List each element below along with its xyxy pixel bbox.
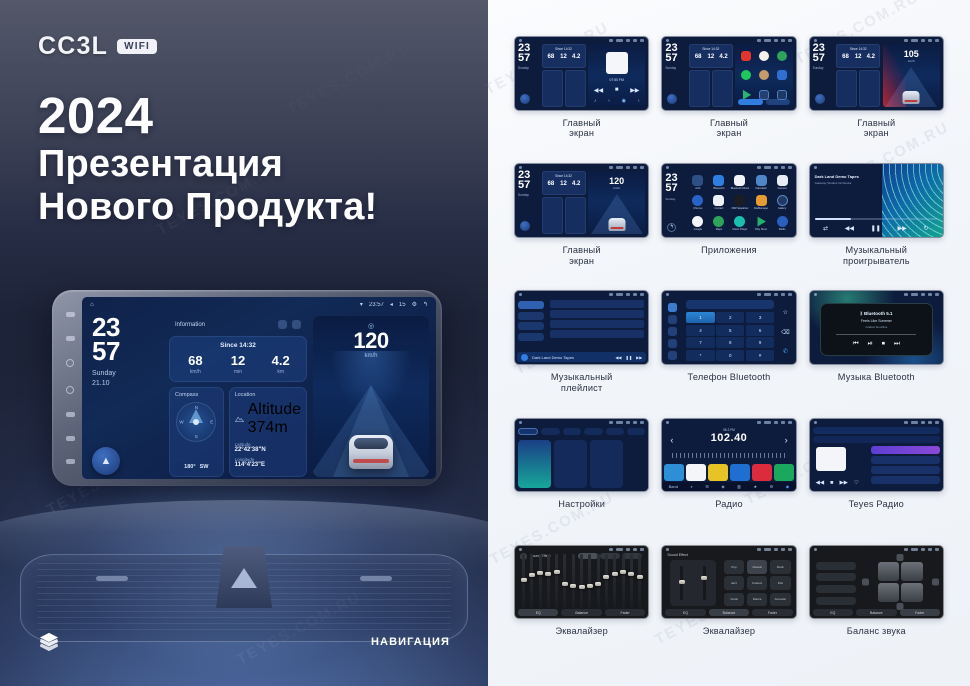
app-icon-spotify[interactable] xyxy=(741,70,751,80)
thumbnail-sound-balance[interactable]: EQ Balance Fader xyxy=(809,545,944,620)
rds-icon[interactable]: ◈ xyxy=(721,484,724,489)
thumbnail-home-media[interactable]: 23 57 Sunday Since 14:32 68 12 4.2 xyxy=(514,36,649,111)
thumbnail-bluetooth-music[interactable]: ᛒ Bluetooth 5.1 Feels Like Summer Coldes… xyxy=(809,290,944,365)
dial-key[interactable]: 9 xyxy=(746,337,774,348)
progress-slider[interactable] xyxy=(815,218,937,220)
clock-day: Sunday xyxy=(89,369,163,378)
caption-line-1: Музыкальный xyxy=(551,372,613,383)
list-item[interactable] xyxy=(871,476,940,484)
thumbnail-caption: Музыкальный плейлист xyxy=(551,372,613,394)
caption-line-1: Главный xyxy=(857,118,895,129)
caption-line-2: экран xyxy=(563,128,601,139)
mini-player[interactable]: Dark Land Demo Tapes ◀◀ ❚❚ ▶▶ xyxy=(517,352,646,362)
car-graphic xyxy=(608,218,625,231)
gallery-cell[interactable]: EQ Balance Fader Баланс звука xyxy=(809,545,944,668)
head-unit-bezel: ⌂ ▾ 23:57 ◂ 15 ⚙ ↰ 23 57 xyxy=(52,290,442,486)
speaker-levels[interactable] xyxy=(816,560,856,607)
app-item[interactable]: Bluetooth xyxy=(713,175,724,190)
tab-fader[interactable]: Fader xyxy=(900,609,940,616)
dial-key[interactable]: 1 xyxy=(686,312,714,323)
preset-name: Sound Effect xyxy=(667,553,688,557)
gallery-cell[interactable]: 23 57 Sunday Since 14:32 68 12 4.2 xyxy=(809,36,944,159)
gallery-cell[interactable]: 23 57 Sunday Since 14:32 68 12 4.2 xyxy=(661,36,796,159)
stop-icon[interactable]: ⏹ xyxy=(882,340,885,348)
app-label: Bluetooth Music xyxy=(731,187,749,190)
star-icon[interactable]: ☆ xyxy=(783,309,788,316)
thumbnail-music-playlist[interactable]: Dark Land Demo Tapes ◀◀ ❚❚ ▶▶ xyxy=(514,290,649,365)
tab-general[interactable] xyxy=(606,428,624,435)
seat-rear-right xyxy=(901,583,923,602)
thumbnail-equalizer-bands[interactable]: Sound Effect xyxy=(514,545,649,620)
dial-key[interactable]: # xyxy=(746,350,774,361)
bt-title: Bluetooth 5.1 xyxy=(864,311,893,316)
gallery-cell[interactable]: Настройки xyxy=(514,418,649,541)
location-widget[interactable] xyxy=(565,70,586,107)
eq-band[interactable] xyxy=(555,554,558,609)
preset-4[interactable] xyxy=(730,464,750,481)
thumbnail-caption: Радио xyxy=(715,499,743,510)
preset-grid[interactable]: Pop Classic Rock Jazz Custom Flat Vocal … xyxy=(724,560,791,607)
longitude-value: 114°4'23"E xyxy=(235,462,301,468)
dial-key[interactable]: 8 xyxy=(716,337,744,348)
next-icon[interactable]: ▶▶ xyxy=(898,225,907,232)
app-item[interactable]: Chrome xyxy=(692,195,703,210)
caption-line-1: Эквалайзер xyxy=(555,626,607,637)
next-icon[interactable]: ▶▶ xyxy=(839,480,847,486)
thumbnail-radio[interactable]: 96.2 FM 102.40 ‹ › Band ⌕ ☰ xyxy=(661,418,796,493)
track-artist: Gateway Studios Orchestra xyxy=(815,181,880,185)
navigation-arrow-icon[interactable] xyxy=(520,94,530,104)
frequency-scale[interactable] xyxy=(672,453,785,458)
thumbnail-home-apps[interactable]: 23 57 Sunday Since 14:32 68 12 4.2 xyxy=(661,36,796,111)
navigation-arrow-icon[interactable]: ▲ xyxy=(92,447,120,475)
compass-readout: 180° SW xyxy=(175,462,218,472)
tab-balance[interactable]: Balance xyxy=(561,609,601,616)
navigation-label: НАВИГАЦИЯ xyxy=(371,636,450,648)
list-item[interactable] xyxy=(550,330,644,338)
tab-system[interactable] xyxy=(627,428,645,435)
dial-key[interactable]: * xyxy=(686,350,714,361)
band-button[interactable]: Band xyxy=(669,484,678,489)
power-icon[interactable]: ◉ xyxy=(786,484,790,489)
stat-value: 12 xyxy=(852,54,865,60)
gallery-cell[interactable]: ◀◀ ■ ▶▶ ♡ Teyes Радио xyxy=(809,418,944,541)
preset-3[interactable] xyxy=(708,464,728,481)
playback-controls[interactable]: ◀◀ ■ ▶▶ ♡ xyxy=(816,480,859,486)
prev-icon[interactable]: ◀◀ xyxy=(615,355,621,360)
expand-icon[interactable] xyxy=(292,320,301,329)
speed-readout: 120 km/h xyxy=(588,176,645,190)
next-icon[interactable]: ▶▶ xyxy=(636,355,642,360)
playback-controls[interactable]: ⏮ ⏯ ⏹ ⏭ xyxy=(853,340,900,348)
thumb-clock: 23 57 Sunday xyxy=(518,171,539,234)
eq-band[interactable] xyxy=(638,554,641,609)
eq-band[interactable] xyxy=(597,554,600,609)
radio-frequency: 102.40 xyxy=(662,432,795,444)
tab-wifi[interactable] xyxy=(518,428,538,435)
fav-icon[interactable]: ♡ xyxy=(854,480,859,486)
preset-acoustic[interactable]: Acoustic xyxy=(770,593,791,607)
gallery-cell[interactable]: 23 57 Sunday Since 14:32 68 12 4.2 xyxy=(514,163,649,286)
latitude-value: 22°42'38"N xyxy=(235,447,301,453)
app-item[interactable]: Calculator xyxy=(755,175,767,190)
settings-cards[interactable] xyxy=(518,440,645,489)
app-icon-maps[interactable] xyxy=(777,51,787,61)
thumbnail-home-drive[interactable]: 23 57 Sunday Since 14:32 68 12 4.2 xyxy=(514,163,649,238)
sidebar-item-search[interactable] xyxy=(668,327,677,336)
media-widget[interactable]: 07:50 FM ◀◀■▶▶ ♪‹◉› xyxy=(588,44,645,107)
sidebar-item-dialpad[interactable] xyxy=(668,303,677,312)
location-widget[interactable]: Location Altitude 374m xyxy=(229,387,307,477)
eq-icon[interactable]: ▥ xyxy=(737,484,741,489)
seek-next-icon[interactable]: › xyxy=(785,435,788,445)
preset-5[interactable] xyxy=(752,464,772,481)
compass-west: W xyxy=(179,420,183,425)
preset-6[interactable] xyxy=(774,464,794,481)
sidebar-item-tracks[interactable] xyxy=(518,301,544,309)
prev-icon[interactable]: ⏮ xyxy=(853,340,859,348)
backspace-icon[interactable]: ⌫ xyxy=(781,329,789,336)
thumbnail-settings[interactable] xyxy=(514,418,649,493)
prev-track-button[interactable] xyxy=(66,312,75,317)
caption-line-1: Телефон Bluetooth xyxy=(688,372,771,383)
dock-button-secondary[interactable] xyxy=(766,99,790,105)
preset-1[interactable] xyxy=(664,464,684,481)
eq-band[interactable] xyxy=(572,554,575,609)
eq-band[interactable] xyxy=(622,554,625,609)
thumb-clock: 23 57 Sunday xyxy=(518,44,539,107)
preset-tiles[interactable] xyxy=(664,464,793,481)
media-controls[interactable]: ◀◀■▶▶ xyxy=(588,87,645,94)
teyes-radio-toolbar[interactable] xyxy=(813,427,940,434)
gallery-cell[interactable]: 1 2 3 4 5 6 7 8 9 * 0 # ☆ ⌫ ✆ xyxy=(661,290,796,413)
track-list[interactable] xyxy=(548,298,646,352)
home-button[interactable] xyxy=(66,386,74,394)
navigation-arrow-icon[interactable] xyxy=(667,94,677,104)
settings-tabs[interactable] xyxy=(518,428,645,436)
dial-key[interactable]: 6 xyxy=(746,325,774,336)
app-label: DSP Equalizer xyxy=(732,207,749,210)
gallery-cell[interactable]: ᛒ Bluetooth 5.1 Feels Like Summer Coldes… xyxy=(809,290,944,413)
gallery-cell[interactable]: 23 57 Sunday AUX Bluetooth Bluetooth Mus… xyxy=(661,163,796,286)
since-label: Since 14:32 xyxy=(545,174,583,178)
tab-eq[interactable]: EQ xyxy=(518,609,558,616)
compass-widget[interactable] xyxy=(836,70,857,107)
app-shortcuts-widget[interactable] xyxy=(735,44,792,107)
information-widget-header: Information xyxy=(169,316,307,331)
eq-band[interactable] xyxy=(522,554,525,609)
preset-rock[interactable]: Rock xyxy=(770,560,791,574)
eq-tabs[interactable]: EQ Balance Fader xyxy=(665,609,792,616)
eq-band[interactable] xyxy=(539,554,542,609)
preset-2[interactable] xyxy=(686,464,706,481)
app-item[interactable]: AUX xyxy=(692,175,703,190)
app-item[interactable]: Gallery xyxy=(777,195,788,210)
thumbnail-apps[interactable]: 23 57 Sunday AUX Bluetooth Bluetooth Mus… xyxy=(661,163,796,238)
radio-toolbar[interactable]: Band ⌕ ☰ ◈ ▥ ★ ⚙ ◉ xyxy=(662,482,795,491)
caption-line-1: Радио xyxy=(715,499,743,510)
tab-balance[interactable]: Balance xyxy=(709,609,749,616)
app-item[interactable]: Bluetooth Music xyxy=(731,175,749,190)
clock-day: Sunday xyxy=(518,193,539,197)
gallery-cell[interactable]: 96.2 FM 102.40 ‹ › Band ⌕ ☰ xyxy=(661,418,796,541)
thumbnail-home-drive-red[interactable]: 23 57 Sunday Since 14:32 68 12 4.2 xyxy=(809,36,944,111)
driving-widget[interactable]: ◎ 120 km/h xyxy=(313,316,429,477)
call-icon[interactable]: ✆ xyxy=(783,348,788,355)
thumb-status-bar xyxy=(810,546,943,553)
navigation-arrow-icon[interactable] xyxy=(815,94,825,104)
dock-button-primary[interactable] xyxy=(738,99,762,105)
card-traffic-usage[interactable] xyxy=(554,440,587,489)
balance-pad[interactable] xyxy=(866,558,935,607)
dial-key[interactable]: 3 xyxy=(746,312,774,323)
app-icon-store[interactable] xyxy=(777,70,787,80)
gallery-cell[interactable]: Dark Land Demo Tapes Gateway Studios Orc… xyxy=(809,163,944,286)
compass-degrees: 180° xyxy=(184,464,195,470)
hero-title: 2024 Презентация Нового Продукта! xyxy=(38,88,377,230)
clock-day: Sunday xyxy=(813,66,834,70)
eq-band[interactable] xyxy=(630,554,633,609)
mountain-icon xyxy=(235,415,244,423)
preset-classic[interactable]: Classic xyxy=(747,560,768,574)
radio-tuner: 96.2 FM 102.40 xyxy=(662,428,795,444)
list-item[interactable] xyxy=(550,320,644,328)
stat-unit: km xyxy=(259,369,302,375)
dial-key[interactable]: 7 xyxy=(686,337,714,348)
app-label: AUX xyxy=(695,187,700,190)
eq-tabs[interactable]: EQ Balance Fader xyxy=(813,609,940,616)
eq-band[interactable] xyxy=(530,554,533,609)
level-front-right[interactable] xyxy=(816,573,856,581)
list-item[interactable] xyxy=(871,446,940,454)
dial-pad[interactable]: 1 2 3 4 5 6 7 8 9 * 0 # xyxy=(686,312,774,361)
list-item[interactable] xyxy=(550,300,644,308)
equalizer-bands[interactable] xyxy=(519,554,644,609)
thumb-status-bar xyxy=(662,164,795,171)
altitude-label: Altitude xyxy=(248,401,301,419)
phone-sidebar[interactable] xyxy=(662,298,683,364)
home-icon[interactable]: ⌂ xyxy=(90,302,94,308)
list-item[interactable] xyxy=(871,456,940,464)
stop-icon[interactable]: ■ xyxy=(830,480,833,486)
caption-line-1: Музыкальный xyxy=(843,245,910,256)
number-display[interactable] xyxy=(686,300,774,309)
teyes-radio-filters[interactable] xyxy=(813,436,940,443)
hazard-triangle-icon[interactable] xyxy=(231,568,257,588)
caption-line-2: экран xyxy=(857,128,895,139)
card-more[interactable] xyxy=(590,440,623,489)
scan-icon[interactable]: ⌕ xyxy=(691,484,693,489)
gallery-cell[interactable]: Dark Land Demo Tapes ◀◀ ❚❚ ▶▶ Музыкальны… xyxy=(514,290,649,413)
sidebar-item-folders[interactable] xyxy=(518,333,544,341)
gallery-cell[interactable]: Sound Effect Pop Classic Rock Jazz Custo… xyxy=(661,545,796,668)
level-rear-left[interactable] xyxy=(816,585,856,593)
phone-actions[interactable]: ☆ ⌫ ✆ xyxy=(776,303,795,361)
app-item[interactable]: Music Player xyxy=(733,216,748,231)
thumb-status-bar xyxy=(515,37,648,44)
tab-display[interactable] xyxy=(563,428,581,435)
road-graphic xyxy=(313,351,429,477)
caption-line-1: Баланс звука xyxy=(847,626,906,637)
sidebar-item-contacts[interactable] xyxy=(668,315,677,324)
eq-band[interactable] xyxy=(563,554,566,609)
driving-widget[interactable]: 120 km/h xyxy=(588,171,645,234)
sidebar-item-history[interactable] xyxy=(668,339,677,348)
app-item[interactable]: Maps xyxy=(713,216,724,231)
compass-widget[interactable] xyxy=(689,70,710,107)
progress-slider[interactable] xyxy=(836,334,916,335)
thumb-status-bar xyxy=(810,37,943,44)
settings-icon[interactable]: ⚙ xyxy=(770,484,774,489)
track-title: Dark Land Demo Tapes xyxy=(532,355,574,360)
balance-left-button[interactable] xyxy=(862,579,869,586)
app-icon-youtube[interactable] xyxy=(741,51,751,61)
driving-widget[interactable]: 105 km/h xyxy=(883,44,940,107)
thumb-status-bar xyxy=(662,546,795,553)
app-item[interactable]: Play Store xyxy=(755,216,767,231)
app-item[interactable]: Contact xyxy=(713,195,724,210)
tab-balance[interactable]: Balance xyxy=(856,609,896,616)
dash-button-left[interactable] xyxy=(96,576,128,581)
eq-band[interactable] xyxy=(613,554,616,609)
gear-icon[interactable]: ⚙ xyxy=(412,301,417,308)
thumbnail-caption: Телефон Bluetooth xyxy=(688,372,771,383)
app-label: Camera xyxy=(777,187,786,190)
head-unit-screen[interactable]: ⌂ ▾ 23:57 ◂ 15 ⚙ ↰ 23 57 xyxy=(82,297,436,479)
tab-eq[interactable]: EQ xyxy=(813,609,853,616)
caption-line-2: экран xyxy=(563,256,601,267)
thumb-status-bar xyxy=(515,164,648,171)
pause-icon[interactable]: ❚❚ xyxy=(625,355,632,360)
playback-controls[interactable]: ⇄ ◀◀ ❚❚ ▶▶ ↻ xyxy=(815,225,937,232)
seek-prev-icon[interactable]: ‹ xyxy=(670,435,673,445)
tab-fader[interactable]: Fader xyxy=(605,609,645,616)
app-item[interactable]: Camera xyxy=(777,175,788,190)
back-icon[interactable]: ↰ xyxy=(667,223,676,232)
back-button[interactable] xyxy=(66,412,75,417)
caption-line-1: Музыка Bluetooth xyxy=(838,372,915,383)
compass-widget[interactable] xyxy=(542,70,563,107)
gallery-cell[interactable]: Sound Effect xyxy=(514,545,649,668)
compass-north: N xyxy=(195,405,198,410)
location-widget[interactable] xyxy=(712,70,733,107)
tab-sound[interactable] xyxy=(541,428,559,435)
dial-key[interactable]: 4 xyxy=(686,325,714,336)
list-item[interactable] xyxy=(550,310,644,318)
next-track-button[interactable] xyxy=(66,336,75,341)
widgets-column: Information Since 14:32 68 xyxy=(169,316,307,477)
app-drawer-grid[interactable]: AUX Bluetooth Bluetooth Music Calculator… xyxy=(688,173,791,233)
tone-sliders[interactable] xyxy=(670,560,715,607)
eq-tabs[interactable]: EQ Balance Fader xyxy=(518,609,645,616)
preset-jazz[interactable]: Jazz xyxy=(724,576,745,590)
app-label: Contact xyxy=(714,207,723,210)
card-wifi[interactable] xyxy=(518,440,551,489)
app-item[interactable]: Radio xyxy=(777,216,788,231)
preset-pop[interactable]: Pop xyxy=(724,560,745,574)
thumbnail-music-player[interactable]: Dark Land Demo Tapes Gateway Studios Orc… xyxy=(809,163,944,238)
prev-icon[interactable]: ◀◀ xyxy=(816,480,824,486)
pause-icon[interactable]: ❚❚ xyxy=(871,225,881,232)
stat-speed: 68 km/h xyxy=(174,354,217,375)
gallery-cell[interactable]: 23 57 Sunday Since 14:32 68 12 4.2 xyxy=(514,36,649,159)
app-item[interactable]: DSP Equalizer xyxy=(732,195,749,210)
app-label: Radio xyxy=(779,228,786,231)
clock-minutes: 57 xyxy=(518,181,539,191)
eq-band[interactable] xyxy=(588,554,591,609)
preset-vocal[interactable]: Vocal xyxy=(724,593,745,607)
location-widget[interactable] xyxy=(859,70,880,107)
preset-custom[interactable]: Custom xyxy=(747,576,768,590)
dial-key[interactable]: 5 xyxy=(716,325,744,336)
car-graphic xyxy=(903,91,920,104)
thumbnail-bluetooth-phone[interactable]: 1 2 3 4 5 6 7 8 9 * 0 # ☆ ⌫ ✆ xyxy=(661,290,796,365)
balance-up-button[interactable] xyxy=(897,554,904,561)
next-icon[interactable]: ⏭ xyxy=(894,340,900,348)
sidebar-item-artists[interactable] xyxy=(518,322,544,330)
sidebar-item-settings[interactable] xyxy=(668,351,677,360)
treble-slider[interactable] xyxy=(703,566,706,600)
sidebar-item-albums[interactable] xyxy=(518,312,544,320)
eq-band[interactable] xyxy=(580,554,583,609)
app-icon-browser[interactable] xyxy=(759,51,769,61)
compass-widget[interactable]: Compass N S W E xyxy=(169,387,224,477)
media-toolbar[interactable]: ♪‹◉› xyxy=(588,98,645,104)
preset-dance[interactable]: Dance xyxy=(747,593,768,607)
app-item[interactable]: Google xyxy=(692,216,703,231)
balance-right-button[interactable] xyxy=(932,579,939,586)
list-item[interactable] xyxy=(871,466,940,474)
app-icon-contacts[interactable] xyxy=(759,70,769,80)
thumbnail-teyes-radio[interactable]: ◀◀ ■ ▶▶ ♡ xyxy=(809,418,944,493)
thumbnail-equalizer-presets[interactable]: Sound Effect Pop Classic Rock Jazz Custo… xyxy=(661,545,796,620)
dial-key[interactable]: 2 xyxy=(716,312,744,323)
app-item[interactable]: FileManager xyxy=(754,195,768,210)
back-icon[interactable]: ↰ xyxy=(423,301,428,308)
dial-key[interactable]: 0 xyxy=(716,350,744,361)
repeat-icon[interactable]: ↻ xyxy=(924,225,929,232)
power-button[interactable] xyxy=(66,359,74,367)
hardware-button-rail[interactable] xyxy=(60,306,80,470)
eq-band[interactable] xyxy=(547,554,550,609)
eq-band[interactable] xyxy=(605,554,608,609)
stat-value: 4.2 xyxy=(570,181,583,187)
refresh-icon[interactable] xyxy=(278,320,287,329)
navigation-arrow-icon[interactable] xyxy=(520,221,530,231)
tab-theme[interactable] xyxy=(584,428,602,435)
stat-unit: min xyxy=(217,369,260,375)
location-widget[interactable] xyxy=(565,197,586,234)
compass-widget[interactable] xyxy=(542,197,563,234)
station-list[interactable] xyxy=(871,446,940,488)
clock-day: Sunday xyxy=(518,66,539,70)
tab-eq[interactable]: EQ xyxy=(665,609,705,616)
level-front-left[interactable] xyxy=(816,562,856,570)
fav-icon[interactable]: ★ xyxy=(753,484,757,489)
tab-fader[interactable]: Fader xyxy=(752,609,792,616)
level-rear-right[interactable] xyxy=(816,597,856,605)
play-pause-icon[interactable]: ⏯ xyxy=(868,340,873,348)
volume-down-button[interactable] xyxy=(66,436,75,441)
preset-flat[interactable]: Flat xyxy=(770,576,791,590)
prev-icon[interactable]: ◀◀ xyxy=(845,225,854,232)
shuffle-icon[interactable]: ⇄ xyxy=(823,225,828,232)
list-icon[interactable]: ☰ xyxy=(705,484,709,489)
bass-slider[interactable] xyxy=(680,566,683,600)
dash-button-right[interactable] xyxy=(360,576,392,581)
station-name: 07:50 FM xyxy=(588,78,645,82)
volume-up-button[interactable] xyxy=(66,459,75,464)
